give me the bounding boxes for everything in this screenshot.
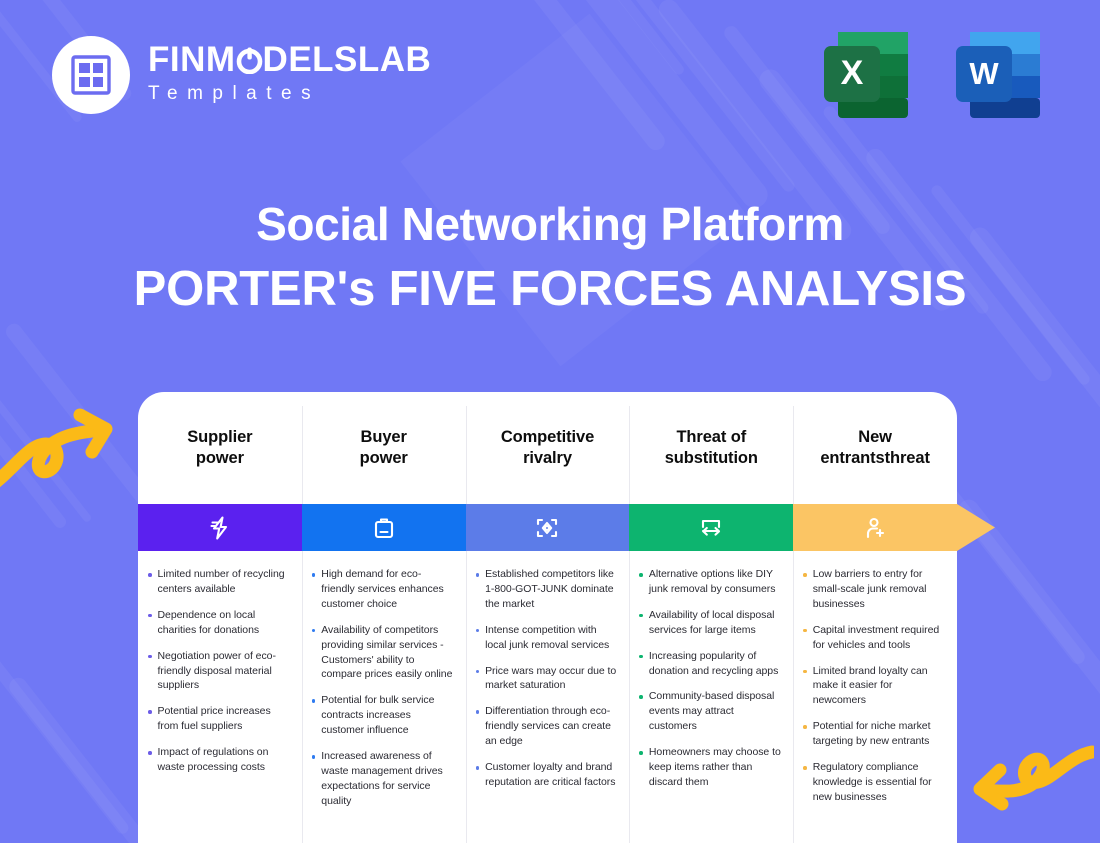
porters-five-forces-card: Supplierpower Limited number of recyclin…: [138, 392, 957, 843]
force-column-3: CompetitiverivalryEstablished competitor…: [466, 392, 630, 843]
bullet-text: Limited brand loyalty can make it easier…: [813, 664, 946, 709]
bullet-dot-icon: [803, 629, 807, 633]
bullet-item: Impact of regulations on waste processin…: [146, 745, 291, 775]
bullet-dot-icon: [312, 573, 316, 577]
office-format-icons: X W: [816, 24, 1048, 124]
bullet-item: Alternative options like DIY junk remova…: [637, 567, 782, 597]
header-line-1: New: [858, 428, 892, 446]
briefcase-icon: [371, 515, 397, 541]
column-bullet-list: Established competitors like 1-800-GOT-J…: [466, 551, 630, 843]
bullet-dot-icon: [639, 751, 643, 755]
header-line-2: entrantsthreat: [820, 449, 930, 467]
bullet-dot-icon: [639, 614, 643, 618]
column-bullet-list: Low barriers to entry for small-scale ju…: [793, 551, 957, 843]
bullet-text: Potential for bulk service contracts inc…: [321, 693, 454, 738]
bullet-dot-icon: [803, 766, 807, 770]
brand-logo[interactable]: FINMDELSLAB Templates: [52, 36, 431, 114]
add-person-icon: [862, 515, 888, 541]
bullet-text: Potential price increases from fuel supp…: [158, 704, 291, 734]
excel-icon[interactable]: X: [816, 24, 916, 124]
bullet-item: Availability of competitors providing si…: [310, 623, 455, 683]
bullet-text: Low barriers to entry for small-scale ju…: [813, 567, 946, 612]
bullet-item: Differentiation through eco-friendly ser…: [474, 704, 619, 749]
bullet-dot-icon: [639, 655, 643, 659]
bullet-item: Low barriers to entry for small-scale ju…: [801, 567, 946, 612]
column-header: Supplierpower: [138, 392, 302, 504]
bullet-dot-icon: [476, 710, 480, 714]
brand-title-post: DELSLAB: [263, 40, 432, 79]
word-icon[interactable]: W: [948, 24, 1048, 124]
bullet-text: Alternative options like DIY junk remova…: [649, 567, 782, 597]
logo-circle: [52, 36, 130, 114]
force-column-2: Buyerpower High demand for eco-friendly …: [302, 392, 466, 843]
bullet-text: Potential for niche market targeting by …: [813, 719, 946, 749]
column-header-label: Supplierpower: [187, 427, 252, 469]
bullet-text: Community-based disposal events may attr…: [649, 689, 782, 734]
bullet-item: Potential for bulk service contracts inc…: [310, 693, 455, 738]
lightning-bolt-icon: [207, 515, 233, 541]
header-line-2: power: [360, 449, 408, 467]
bullet-text: Homeowners may choose to keep items rath…: [649, 745, 782, 790]
brand-title: FINMDELSLAB: [148, 42, 431, 78]
page-title-block: Social Networking Platform PORTER's FIVE…: [0, 196, 1100, 320]
column-color-band: [302, 504, 466, 551]
bullet-text: Negotiation power of eco-friendly dispos…: [158, 649, 291, 694]
column-header: Newentrantsthreat: [793, 392, 957, 504]
column-color-band: [629, 504, 793, 551]
bullet-item: Capital investment required for vehicles…: [801, 623, 946, 653]
column-color-band: [793, 504, 957, 551]
target-focus-icon: [534, 515, 560, 541]
header-line-2: substitution: [665, 449, 758, 467]
bullet-dot-icon: [803, 573, 807, 577]
force-column-5: Newentrantsthreat Low barriers to entry …: [793, 392, 957, 843]
column-color-band: [138, 504, 302, 551]
bullet-text: Availability of competitors providing si…: [321, 623, 454, 683]
bullet-item: Customer loyalty and brand reputation ar…: [474, 760, 619, 790]
bullet-item: Homeowners may choose to keep items rath…: [637, 745, 782, 790]
bullet-dot-icon: [639, 573, 643, 577]
power-symbol-icon: [236, 47, 263, 74]
bullet-text: Increased awareness of waste management …: [321, 749, 454, 809]
brand-title-pre: FINM: [148, 40, 236, 79]
bullet-item: Potential price increases from fuel supp…: [146, 704, 291, 734]
bullet-item: Established competitors like 1-800-GOT-J…: [474, 567, 619, 612]
bullet-text: Customer loyalty and brand reputation ar…: [485, 760, 618, 790]
forces-table: Supplierpower Limited number of recyclin…: [138, 392, 957, 843]
column-header: Competitiverivalry: [466, 392, 630, 504]
column-header-label: Competitiverivalry: [501, 427, 594, 469]
squiggle-arrow-up-right-icon: [0, 404, 126, 499]
bullet-item: Dependence on local charities for donati…: [146, 608, 291, 638]
bullet-text: Availability of local disposal services …: [649, 608, 782, 638]
bullet-item: Potential for niche market targeting by …: [801, 719, 946, 749]
squiggle-arrow-down-left-icon: [958, 734, 1094, 835]
bullet-item: Availability of local disposal services …: [637, 608, 782, 638]
exchange-arrows-icon: [698, 515, 724, 541]
bullet-item: Regulatory compliance knowledge is essen…: [801, 760, 946, 805]
bullet-text: Increasing popularity of donation and re…: [649, 649, 782, 679]
bullet-dot-icon: [312, 699, 316, 703]
bullet-item: Increasing popularity of donation and re…: [637, 649, 782, 679]
svg-text:W: W: [969, 56, 999, 91]
bullet-dot-icon: [476, 766, 480, 770]
column-bullet-list: Limited number of recycling centers avai…: [138, 551, 302, 843]
bullet-dot-icon: [148, 751, 152, 755]
force-column-4: Threat ofsubstitution Alternative option…: [629, 392, 793, 843]
bullet-text: Limited number of recycling centers avai…: [158, 567, 291, 597]
bullet-dot-icon: [148, 655, 152, 659]
bullet-dot-icon: [476, 629, 480, 633]
bullet-text: Dependence on local charities for donati…: [158, 608, 291, 638]
bullet-dot-icon: [312, 755, 316, 759]
bullet-item: Increased awareness of waste management …: [310, 749, 455, 809]
bullet-dot-icon: [148, 614, 152, 618]
column-bullet-list: Alternative options like DIY junk remova…: [629, 551, 793, 843]
header-line-1: Competitive: [501, 428, 594, 446]
bullet-text: Price wars may occur due to market satur…: [485, 664, 618, 694]
bullet-text: Differentiation through eco-friendly ser…: [485, 704, 618, 749]
bullet-item: Limited brand loyalty can make it easier…: [801, 664, 946, 709]
bullet-text: Capital investment required for vehicles…: [813, 623, 946, 653]
bullet-dot-icon: [803, 725, 807, 729]
bullet-dot-icon: [148, 710, 152, 714]
bullet-text: High demand for eco-friendly services en…: [321, 567, 454, 612]
bullet-item: Price wars may occur due to market satur…: [474, 664, 619, 694]
bullet-dot-icon: [803, 670, 807, 674]
bullet-dot-icon: [476, 670, 480, 674]
column-header-label: Newentrantsthreat: [820, 427, 930, 469]
band-arrow-tip: [957, 504, 997, 551]
header-line-2: rivalry: [523, 449, 572, 467]
column-header: Threat ofsubstitution: [629, 392, 793, 504]
column-color-band: [466, 504, 630, 551]
column-header: Buyerpower: [302, 392, 466, 504]
brand-subtitle: Templates: [148, 80, 431, 109]
bullet-item: Negotiation power of eco-friendly dispos…: [146, 649, 291, 694]
column-header-label: Threat ofsubstitution: [665, 427, 758, 469]
bullet-item: Limited number of recycling centers avai…: [146, 567, 291, 597]
bullet-text: Impact of regulations on waste processin…: [158, 745, 291, 775]
header-line-1: Threat of: [676, 428, 746, 446]
bullet-item: High demand for eco-friendly services en…: [310, 567, 455, 612]
svg-text:X: X: [841, 54, 864, 92]
bullet-item: Intense competition with local junk remo…: [474, 623, 619, 653]
page-title: PORTER's FIVE FORCES ANALYSIS: [0, 260, 1100, 320]
header-line-1: Supplier: [187, 428, 252, 446]
page-subtitle: Social Networking Platform: [0, 196, 1100, 252]
grid-squares-icon: [71, 55, 111, 95]
bullet-text: Intense competition with local junk remo…: [485, 623, 618, 653]
bullet-dot-icon: [148, 573, 152, 577]
column-header-label: Buyerpower: [360, 427, 408, 469]
header-line-1: Buyer: [361, 428, 407, 446]
force-column-1: Supplierpower Limited number of recyclin…: [138, 392, 302, 843]
bullet-dot-icon: [476, 573, 480, 577]
column-bullet-list: High demand for eco-friendly services en…: [302, 551, 466, 843]
bullet-dot-icon: [312, 629, 316, 633]
bullet-dot-icon: [639, 695, 643, 699]
bullet-text: Established competitors like 1-800-GOT-J…: [485, 567, 618, 612]
header-line-2: power: [196, 449, 244, 467]
bullet-item: Community-based disposal events may attr…: [637, 689, 782, 734]
bullet-text: Regulatory compliance knowledge is essen…: [813, 760, 946, 805]
